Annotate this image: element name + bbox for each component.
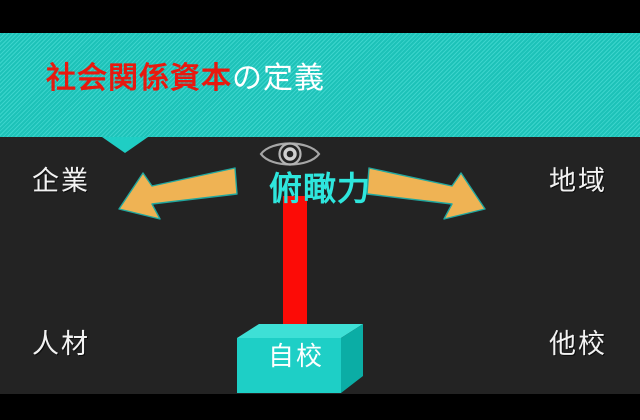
corner-label-bottom-left: 人材 — [32, 331, 90, 358]
title-rest-text: の定義 — [232, 61, 325, 96]
letterbox-top — [0, 0, 640, 33]
connector-stem — [283, 196, 307, 339]
slide-canvas: 社会関係資本の定義 企業 地域 人材 他校 俯瞰力 自校 — [0, 0, 640, 420]
eye-icon — [259, 136, 321, 172]
corner-label-bottom-right: 他校 — [549, 331, 607, 358]
title-highlight-text: 社会関係資本 — [46, 61, 232, 96]
school-box-label: 自校 — [243, 344, 349, 370]
page-title: 社会関係資本の定義 — [46, 64, 325, 94]
banner-notch-pointer — [102, 137, 148, 153]
box-top-face — [237, 324, 363, 338]
center-label: 俯瞰力 — [0, 172, 640, 205]
letterbox-bottom — [0, 394, 640, 420]
